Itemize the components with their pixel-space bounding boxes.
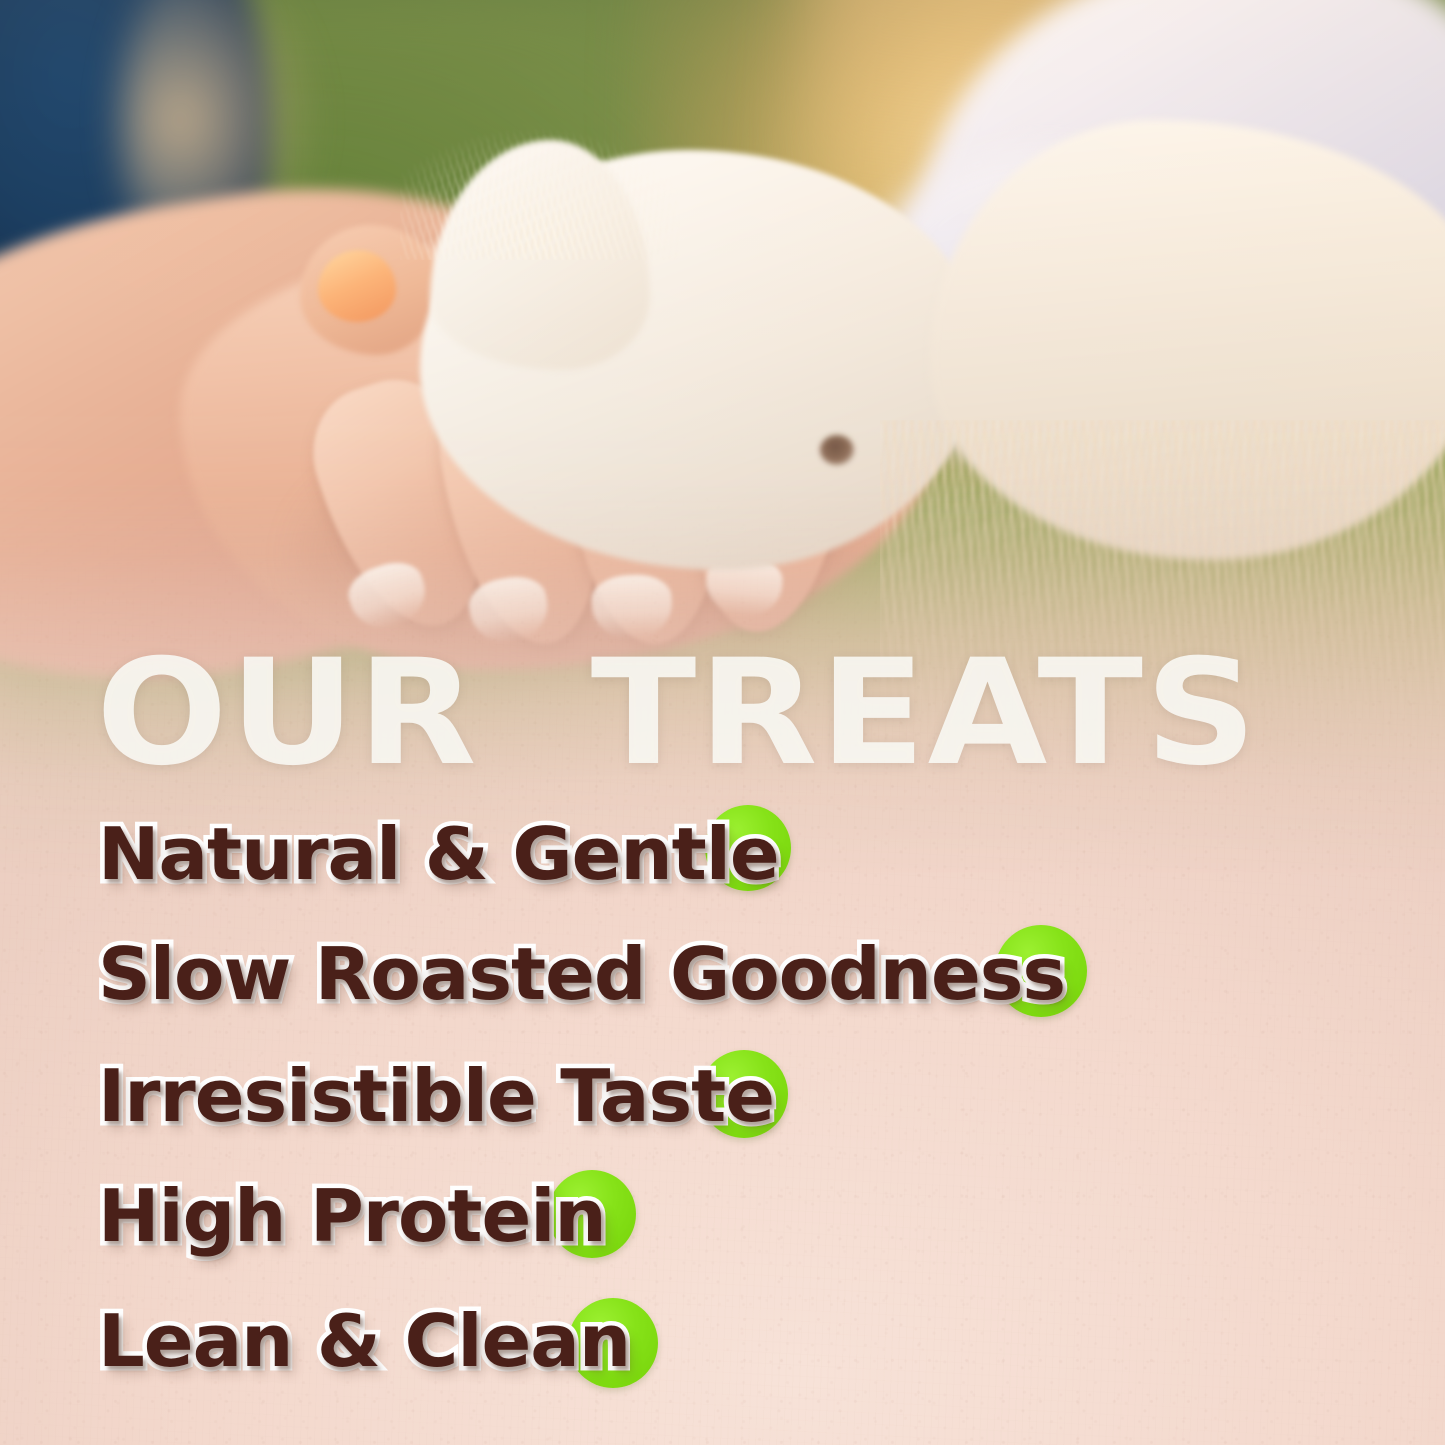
- product-infographic-canvas: OUR TREATS Natural & Gentle Slow Roasted…: [0, 0, 1445, 1445]
- page-title: OUR TREATS: [96, 640, 1259, 786]
